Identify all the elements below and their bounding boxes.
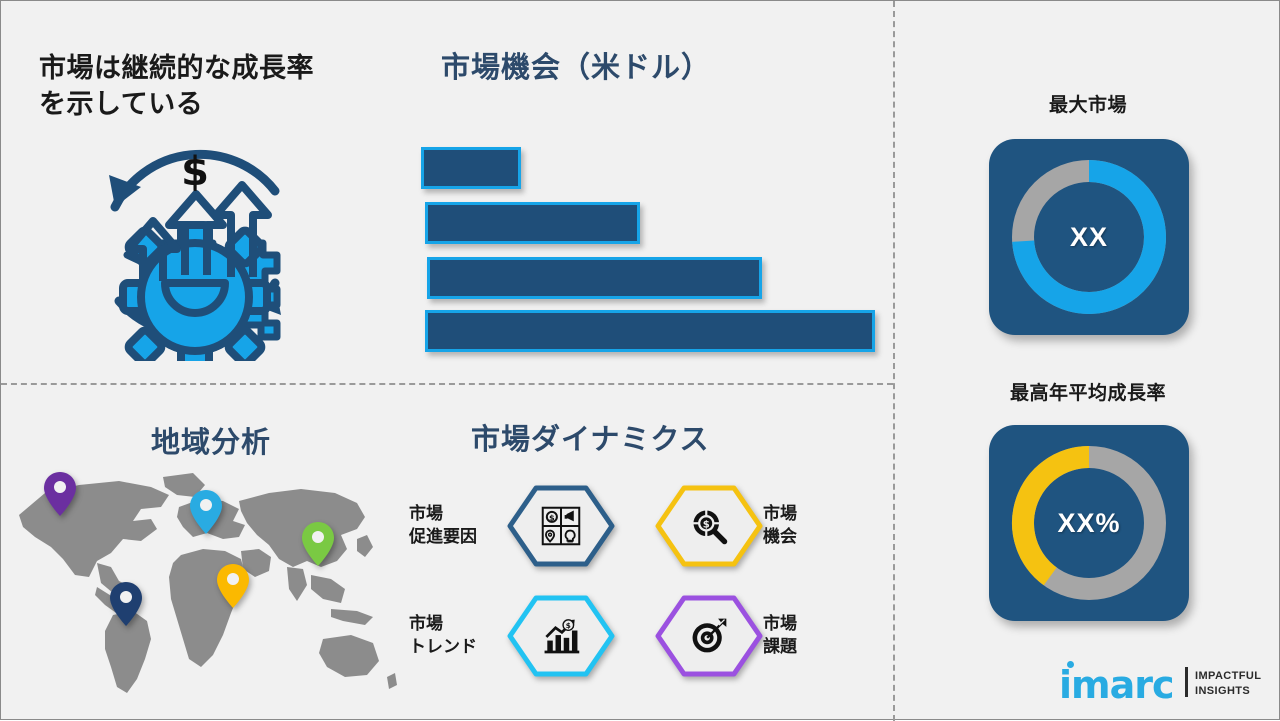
largest-market-card: XX — [989, 139, 1189, 335]
dynamics-item-drivers[interactable]: 市場 促進要因 $ — [409, 485, 624, 567]
horizontal-divider — [1, 383, 893, 385]
logo-tagline: IMPACTFUL INSIGHTS — [1195, 669, 1261, 699]
map-pin-north-america[interactable] — [43, 471, 77, 517]
svg-text:$: $ — [549, 513, 555, 523]
dynamics-label: 市場 課題 — [763, 613, 861, 659]
dynamics-panel-title: 市場ダイナミクス — [471, 423, 710, 458]
logo-wordmark: imarc — [1059, 663, 1174, 707]
largest-market-label: 最大市場 — [963, 93, 1213, 118]
hexagon-badge — [654, 595, 764, 677]
highest-cagr-card: XX% — [989, 425, 1189, 621]
vertical-divider — [893, 1, 895, 721]
opportunity-panel-title: 市場機会（米ドル） — [441, 51, 861, 86]
map-pin-europe[interactable] — [189, 489, 223, 535]
logo-separator — [1185, 667, 1188, 697]
svg-text:$: $ — [566, 621, 571, 630]
bar-chart-growth-dollar-icon: $ — [506, 595, 616, 677]
dynamics-label: 市場 機会 — [763, 503, 861, 549]
target-dart-icon — [654, 595, 764, 677]
map-pin-east-asia[interactable] — [301, 521, 335, 567]
dynamics-item-challenges[interactable]: 市場 課題 — [646, 595, 861, 677]
growth-cycle-gear-icon: $ — [79, 129, 311, 361]
hexagon-badge: $ — [506, 485, 616, 567]
map-pin-middle-east-africa[interactable] — [216, 563, 250, 609]
bar-item — [421, 147, 521, 189]
magnifier-dollar-icon: $ — [654, 485, 764, 567]
bar-item — [425, 202, 640, 244]
puzzle-pieces-icon: $ — [506, 485, 616, 567]
infographic-slide: 市場は継続的な成長率 を示している — [0, 0, 1280, 720]
bar-item — [427, 257, 762, 299]
highest-cagr-label: 最高年平均成長率 — [963, 381, 1213, 406]
dynamics-label: 市場 促進要因 — [409, 503, 507, 549]
hexagon-badge: $ — [654, 485, 764, 567]
dynamics-item-trends[interactable]: 市場 トレンド $ — [409, 595, 624, 677]
highest-cagr-value: XX% — [989, 425, 1189, 621]
regional-panel-title: 地域分析 — [151, 426, 271, 461]
map-pin-south-america[interactable] — [109, 581, 143, 627]
svg-text:$: $ — [703, 519, 710, 530]
largest-market-value: XX — [989, 139, 1189, 335]
dynamics-item-opportunities[interactable]: $ 市場 機会 — [646, 485, 861, 567]
opportunity-bar-chart — [419, 147, 879, 352]
world-map — [1, 463, 401, 703]
bar-item — [425, 310, 875, 352]
growth-panel-title: 市場は継続的な成長率 を示している — [39, 51, 389, 122]
dynamics-label: 市場 トレンド — [409, 613, 507, 659]
dollar-symbol: $ — [181, 149, 209, 195]
hexagon-badge: $ — [506, 595, 616, 677]
imarc-logo: imarc IMPACTFUL INSIGHTS — [1059, 661, 1259, 705]
